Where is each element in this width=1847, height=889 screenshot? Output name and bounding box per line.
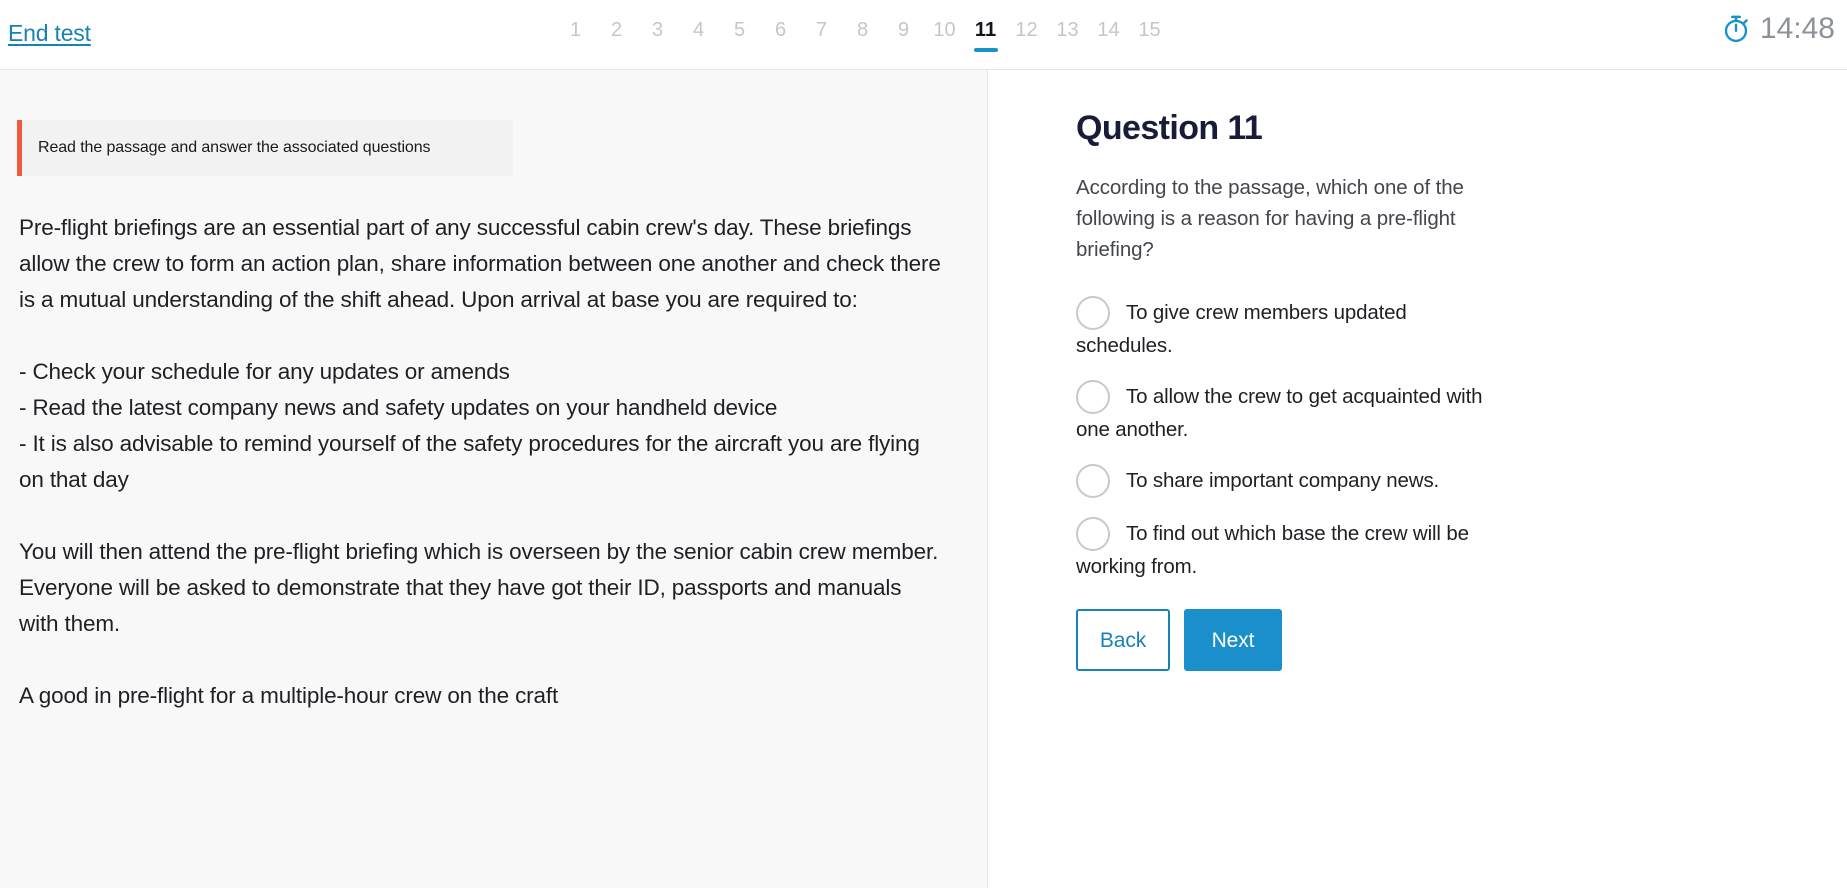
pager-item-7[interactable]: 7 [801,18,842,52]
question-prompt: According to the passage, which one of t… [1076,172,1480,265]
pager-item-9[interactable]: 9 [883,18,924,52]
navigation-buttons: Back Next [1076,609,1846,671]
pager-item-13[interactable]: 13 [1047,18,1088,52]
answer-option-label: To allow the crew to get acquainted with… [1076,385,1482,441]
pager-item-11[interactable]: 11 [965,18,1006,52]
pager-item-3[interactable]: 3 [637,18,678,52]
radio-button-icon[interactable] [1076,380,1110,414]
passage-paragraph: Pre-flight briefings are an essential pa… [19,210,944,318]
pager-item-12[interactable]: 12 [1006,18,1047,52]
answer-option-label: To give crew members updated schedules. [1076,301,1407,357]
pager-item-6[interactable]: 6 [760,18,801,52]
answer-option[interactable]: To give crew members updated schedules. [1076,296,1496,361]
timer-value: 14:48 [1760,14,1835,44]
question-pager: 123456789101112131415 [555,18,1170,52]
answer-option-label: To share important company news. [1126,469,1439,492]
pager-item-15[interactable]: 15 [1129,18,1170,52]
end-test-link[interactable]: End test [8,20,91,47]
instruction-callout: Read the passage and answer the associat… [17,120,513,176]
paragraph-spacer [19,318,944,354]
main-content: Read the passage and answer the associat… [0,70,1847,888]
answer-option[interactable]: To find out which base the crew will be … [1076,517,1496,582]
timer: 14:48 [1721,14,1835,44]
pager-item-1[interactable]: 1 [555,18,596,52]
question-pane: Question 11 According to the passage, wh… [988,70,1846,888]
answer-option[interactable]: To share important company news. [1076,464,1496,498]
stopwatch-icon [1721,14,1751,44]
passage-paragraph: - Check your schedule for any updates or… [19,354,944,498]
answer-option[interactable]: To allow the crew to get acquainted with… [1076,380,1496,445]
paragraph-spacer [19,498,944,534]
radio-button-icon[interactable] [1076,296,1110,330]
answer-option-label: To find out which base the crew will be … [1076,522,1469,578]
passage-body: Pre-flight briefings are an essential pa… [19,210,944,714]
pager-item-5[interactable]: 5 [719,18,760,52]
pager-item-10[interactable]: 10 [924,18,965,52]
instruction-text: Read the passage and answer the associat… [38,137,430,159]
next-button[interactable]: Next [1184,609,1282,671]
passage-paragraph: You will then attend the pre-flight brie… [19,534,944,642]
pager-item-4[interactable]: 4 [678,18,719,52]
answer-options: To give crew members updated schedules.T… [1076,296,1496,582]
back-button[interactable]: Back [1076,609,1170,671]
passage-paragraph: A good in pre-flight for a multiple-hour… [19,678,944,714]
pager-item-14[interactable]: 14 [1088,18,1129,52]
question-title: Question 11 [1076,108,1846,148]
radio-button-icon[interactable] [1076,464,1110,498]
paragraph-spacer [19,642,944,678]
pager-item-2[interactable]: 2 [596,18,637,52]
radio-button-icon[interactable] [1076,517,1110,551]
pager-item-8[interactable]: 8 [842,18,883,52]
passage-pane: Read the passage and answer the associat… [0,70,988,888]
top-bar: End test 123456789101112131415 14:48 [0,0,1847,70]
